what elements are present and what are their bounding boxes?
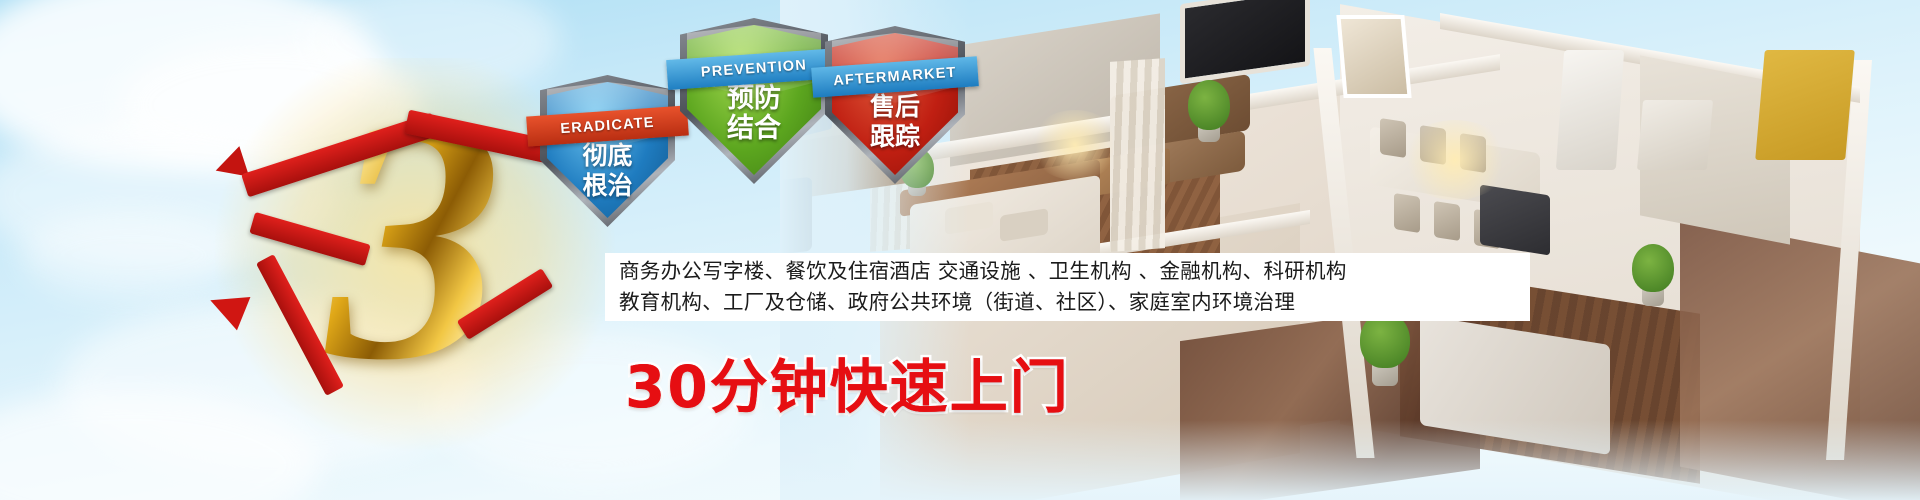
oven	[1480, 184, 1550, 255]
cloud-shape	[20, 210, 240, 300]
potted-plant	[1188, 80, 1230, 130]
service-scope-panel: 商务办公写字楼、餐饮及住宿酒店 交通设施 、卫生机构 、金融机构、科研机构 教育…	[605, 253, 1530, 321]
refrigerator	[1556, 50, 1624, 170]
ambient-light	[1030, 110, 1120, 180]
kitchen-cabinet	[1755, 50, 1855, 160]
shield-chinese-text: 彻底根治	[540, 141, 675, 201]
headline-text: 30分钟快速上门	[625, 340, 1070, 424]
wall-art	[1336, 15, 1411, 98]
shield-cn-line1: 预防	[727, 83, 781, 114]
shield-chinese-text: 售后跟踪	[825, 92, 965, 152]
service-scope-line-2: 教育机构、工厂及仓储、政府公共环境（街道、社区）、家庭室内环境治理	[619, 287, 1516, 318]
kitchen-cabinet	[1637, 100, 1713, 170]
shield-badge-eradicate: 彻底根治 ERADICATE	[540, 75, 675, 227]
red-arrow-icon	[215, 285, 375, 435]
marble-floor-b	[1680, 217, 1920, 500]
shield-cn-line2: 根治	[582, 171, 632, 200]
shield-cn-line2: 结合	[727, 113, 781, 144]
shield-badge-prevention: 预防结合 PREVENTION	[680, 18, 828, 184]
television	[1180, 0, 1310, 84]
promotional-banner: 3 彻底根治 ERADICATE 预防结合 PREVENTION 售后跟踪 AF…	[0, 0, 1920, 500]
shield-cn-line2: 跟踪	[870, 122, 920, 151]
shield-cn-line1: 售后	[870, 92, 920, 121]
potted-plant	[1632, 244, 1674, 292]
shield-cn-line1: 彻底	[582, 141, 632, 170]
shield-badge-aftermarket: 售后跟踪 AFTERMARKET	[825, 26, 965, 184]
shield-chinese-text: 预防结合	[680, 84, 828, 144]
dining-chair	[1434, 201, 1460, 241]
ambient-light	[1400, 120, 1510, 200]
office-chair	[780, 177, 812, 258]
service-scope-line-1: 商务办公写字楼、餐饮及住宿酒店 交通设施 、卫生机构 、金融机构、科研机构	[619, 256, 1516, 287]
dining-chair	[1394, 193, 1420, 233]
curtain	[1110, 58, 1165, 252]
